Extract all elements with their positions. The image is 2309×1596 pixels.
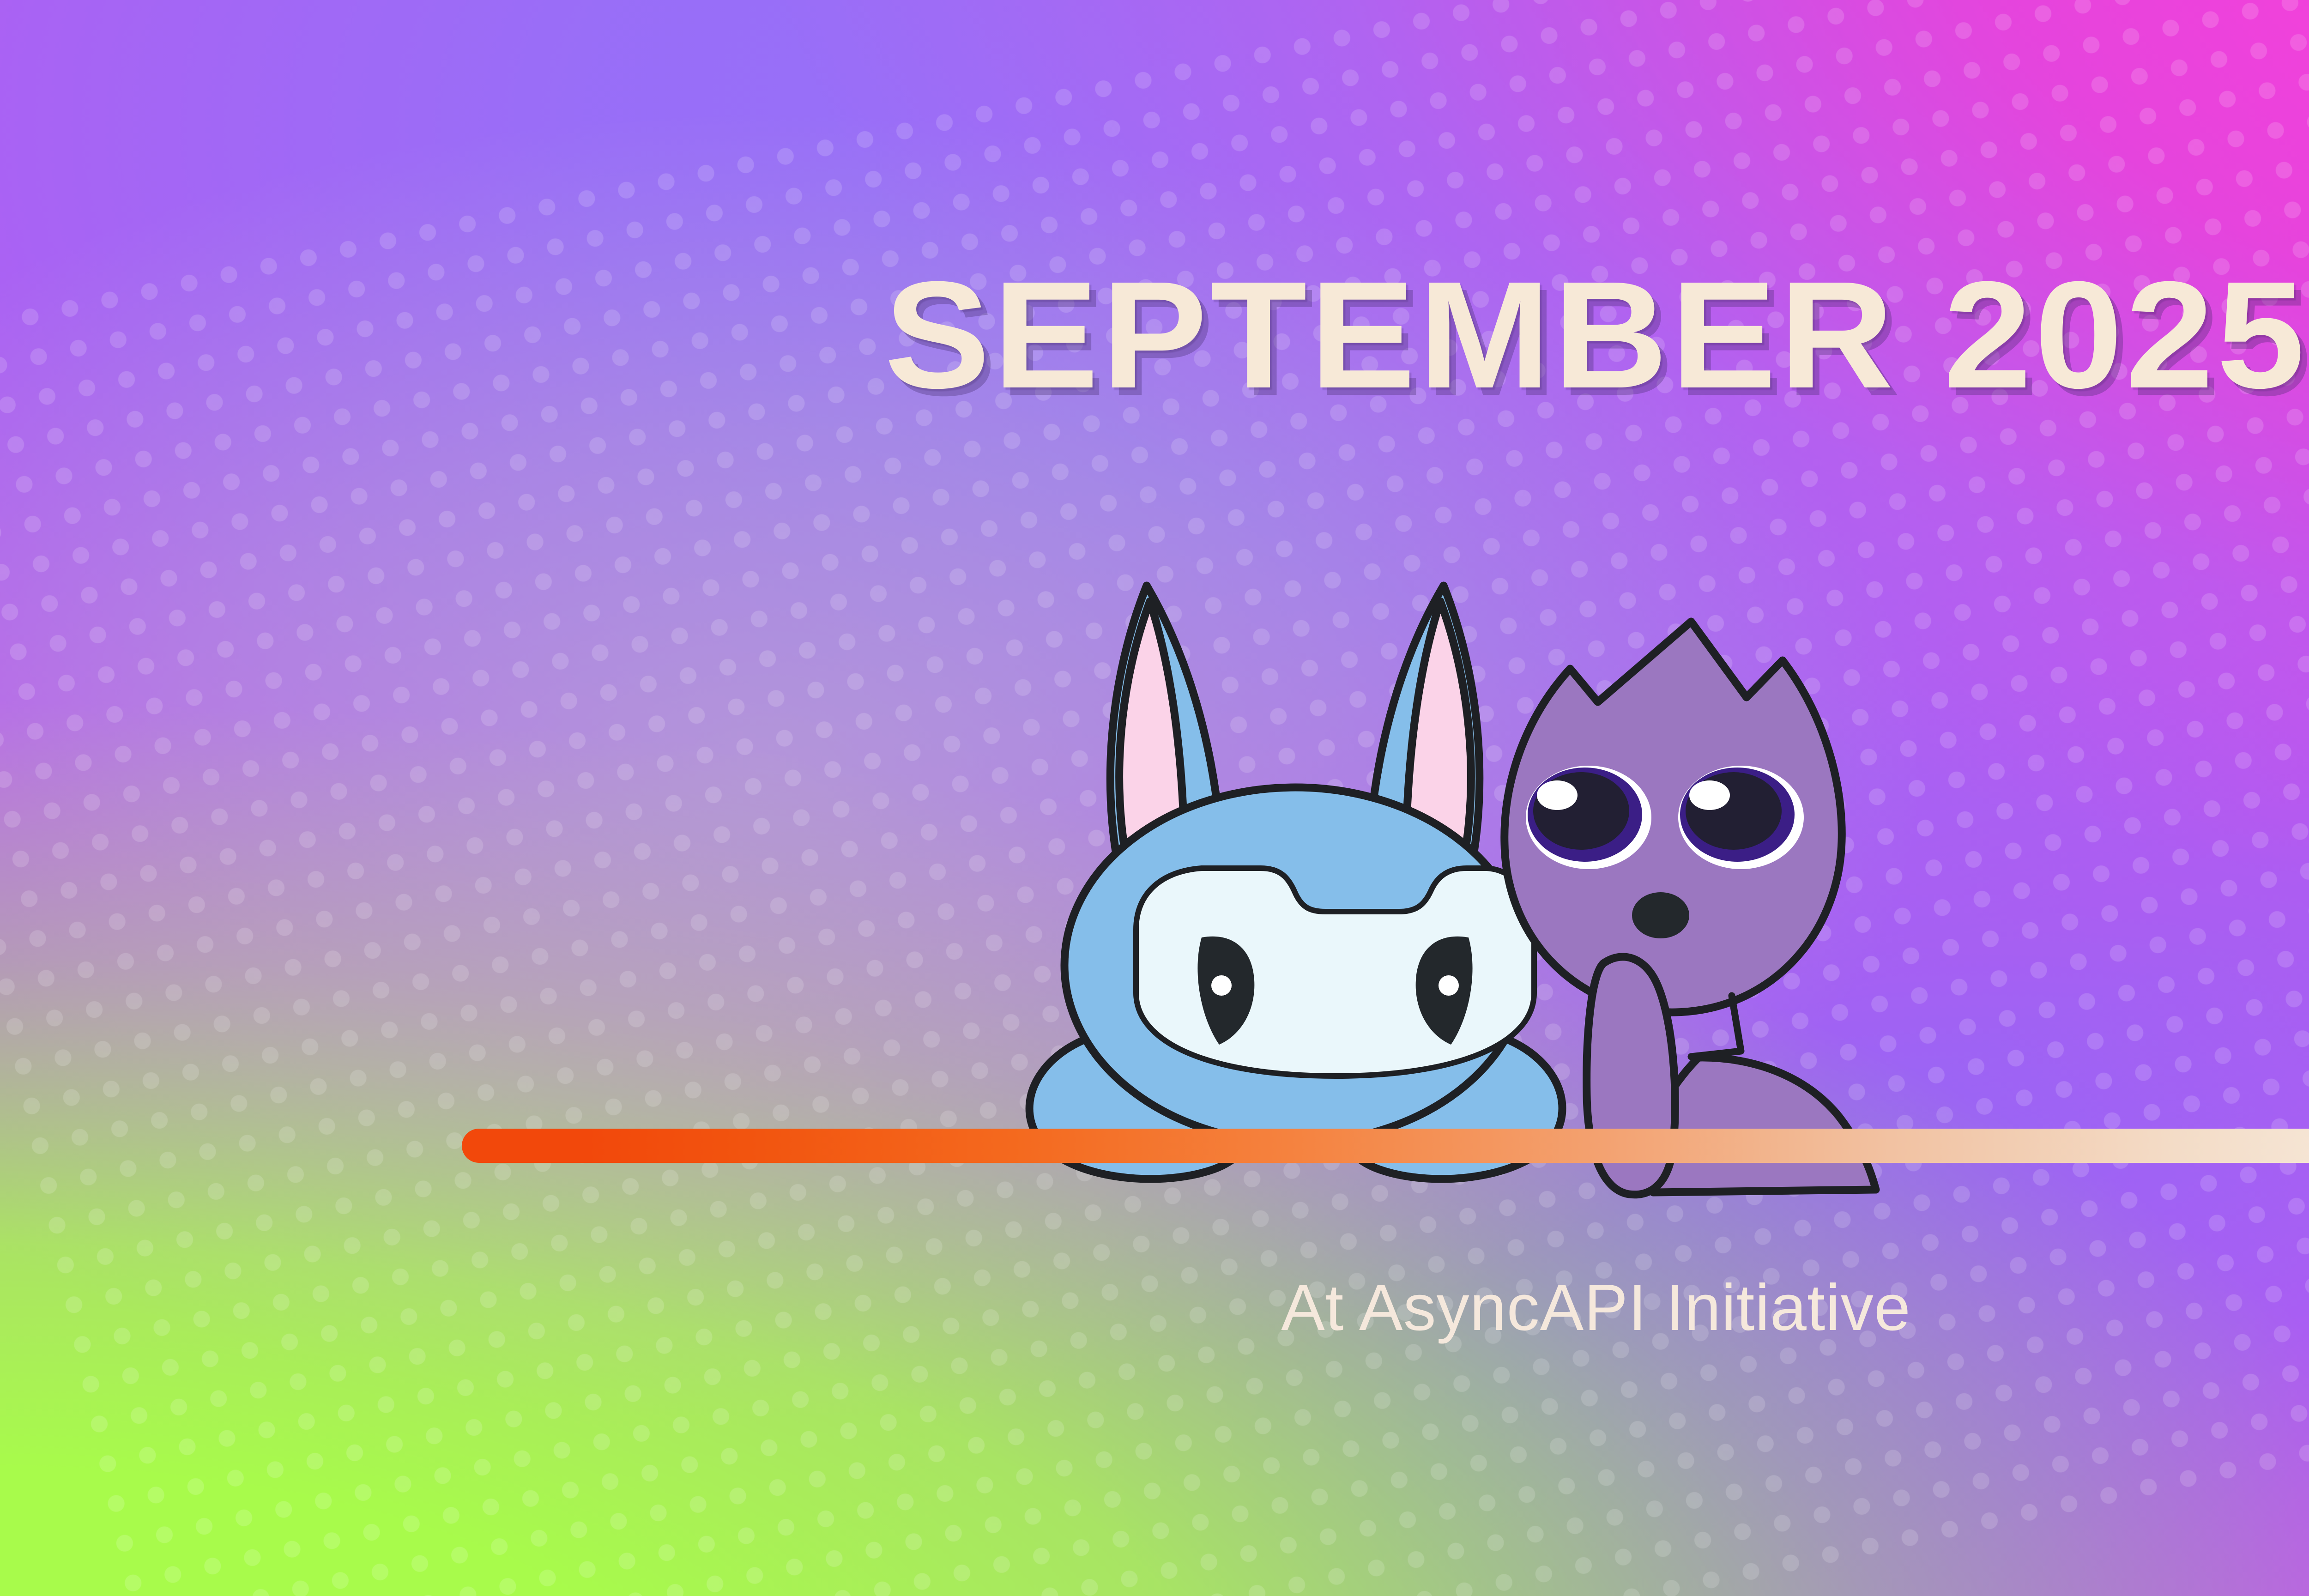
- flame-eye-left-highlight: [1537, 780, 1578, 810]
- progress-bar: [462, 1129, 2309, 1163]
- flame-arm-lower: [1647, 1058, 1876, 1192]
- page-subtitle: At AsyncAPI Initiative: [0, 1269, 2309, 1347]
- mascot-group: [993, 499, 1907, 1219]
- bunny-mascot: [1029, 586, 1562, 1179]
- flame-eye-right-highlight: [1689, 780, 1730, 810]
- flame-mouth: [1632, 892, 1689, 938]
- poster-canvas: SEPTEMBER 2025: [0, 0, 2309, 1596]
- bunny-eye-left-highlight: [1211, 975, 1232, 996]
- page-title: SEPTEMBER 2025: [0, 259, 2309, 411]
- bunny-eye-right-highlight: [1439, 975, 1459, 996]
